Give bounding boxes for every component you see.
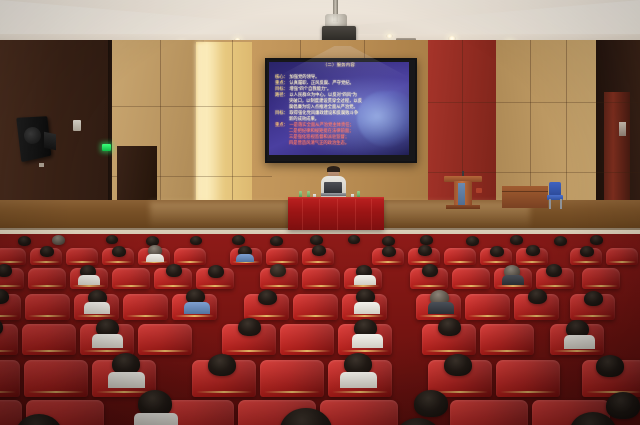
auditorium-seat[interactable] [123,294,168,320]
audience-shirt [146,254,164,262]
slide-line-text: 腐倡廉为切入点推进全面从严治党。 [289,104,358,109]
presenter-hair [327,166,340,172]
audience-head [606,392,640,419]
slide-line-label: 重点： [275,122,288,127]
slide-body: 核心：加强党的领导。重点：认真履职、正风反腐、严守党纪。目标：增强"四个自我能力… [269,75,409,147]
auditorium-seat[interactable] [28,268,66,289]
laptop-keyboard[interactable] [321,193,346,196]
auditorium-seat[interactable] [260,360,324,397]
lectern-base [446,205,480,209]
auditorium-seat[interactable] [320,400,398,425]
audience-head [528,289,547,304]
auditorium-seat[interactable] [66,248,98,265]
audience-shirt [134,413,178,425]
audience-shirt [354,302,380,314]
slide-line-text: 加强党的领导。 [289,74,319,79]
slide-line-label: 路径： [275,92,288,97]
slide-line-text: 二是把纪律和规矩挺在法律前面； [289,128,353,133]
audience-shirt [340,372,377,388]
audience-shirt [428,302,454,314]
audience-head [526,245,540,256]
audience-head [312,245,326,256]
audience-head [190,236,202,245]
audience-head [112,246,126,257]
auditorium-seat[interactable] [0,400,22,425]
projection-screen[interactable]: （二）服务内容 核心：加强党的领导。重点：认真履职、正风反腐、严守党纪。目标：增… [269,62,409,155]
loudspeaker-bracket [44,132,56,151]
audience-head [52,235,65,245]
slide-line-text: 突破口，以制度建设贯穿全过程，以反 [289,98,362,103]
wall-sconce-right [619,122,626,136]
lectern-front-panel [458,183,465,205]
chair-leg [560,199,562,209]
audience-head [418,245,432,256]
audience-head [270,264,286,277]
audience-head [422,264,438,277]
audience-head [238,318,261,336]
auditorium-seat[interactable] [465,294,510,320]
side-cabinet-seam [502,191,548,192]
audience-head [580,246,594,257]
chair-leg [549,199,551,209]
slide-line-text: 一是落实全面从严治党主体责任； [289,122,353,127]
panel-seam [112,106,272,107]
slide-line-text: 四是营造风清气正的政治生态。 [289,140,349,145]
audience-head [40,246,54,257]
audience-head [590,235,603,245]
downlight [386,34,393,38]
slide-line-text: 取得强化党风廉政建设和反腐败斗争 [289,110,358,115]
auditorium-seat[interactable] [302,268,340,289]
slide-line-label: 核心： [275,74,288,79]
audience-head [438,318,461,336]
audience-head [106,235,118,244]
audience-shirt [564,335,595,349]
slide-line-text: 增强"四个自我能力"。 [289,86,331,91]
slide-line-text: 以人民群众为中心，以反对"四风"为 [289,92,357,97]
audience-head [208,354,236,376]
audience-head [382,236,395,246]
audience-head [444,354,472,376]
side-cabinet [502,186,548,208]
audience-head [490,246,504,257]
auditorium-seat[interactable] [22,324,76,355]
presenter-table [288,199,384,230]
audience-head [258,290,277,305]
panel-seam [428,102,640,103]
exit-sign-icon [102,144,111,151]
audience-shirt [108,372,145,388]
slide-line-text: 新的成效成果。 [289,116,319,121]
side-door-left[interactable] [117,146,157,206]
audience-shirt [84,302,110,314]
audience-shirt [352,334,383,348]
audience-head [270,236,283,246]
audience-shirt [78,275,100,285]
auditorium-seat[interactable] [293,294,338,320]
auditorium-seat[interactable] [444,248,476,265]
audience-head [420,235,433,245]
slide-line-text: 认真履职、正风反腐、严守党纪。 [289,80,353,85]
auditorium-seat[interactable] [582,268,620,289]
audience-head [554,236,567,246]
audience-head [382,246,396,257]
auditorium-seat[interactable] [480,324,534,355]
audience-head [414,390,448,417]
audience-head [0,264,12,277]
audience-head [510,235,523,245]
slide-line-label: 重点： [275,80,288,85]
audience-head-foreground [396,418,440,425]
audience-seating-area [0,234,640,425]
audience-shirt [502,275,524,285]
auditorium-seat[interactable] [174,248,206,265]
audience-head [546,264,562,277]
audience-shirt [236,254,254,262]
blue-chair-back [549,182,561,196]
audience-shirt [184,302,210,314]
slide-line: 四是营造风清气正的政治生态。 [275,141,409,146]
auditorium-seat[interactable] [280,324,334,355]
auditorium-seat[interactable] [496,360,560,397]
wall-notice-plate [73,120,81,131]
audience-head [348,235,360,244]
auditorium-seat[interactable] [452,268,490,289]
auditorium-seat[interactable] [450,400,528,425]
slide-line-label: 目标： [275,86,288,91]
audience-head [466,236,479,246]
auditorium-seat[interactable] [266,248,298,265]
audience-head [596,355,624,377]
slide-line-text: 三是强化巡视监督和派驻监督； [289,134,349,139]
audience-shirt [354,275,376,285]
auditorium-seat[interactable] [0,248,26,265]
auditorium-seat[interactable] [0,360,20,397]
audience-head [18,236,31,246]
audience-head [208,265,224,278]
auditorium-seat[interactable] [112,268,150,289]
wall-outlet-right[interactable] [476,188,482,193]
auditorium-photo: （二）服务内容 核心：加强党的领导。重点：认真履职、正风反腐、严守党纪。目标：增… [0,0,640,425]
auditorium-seat[interactable] [25,294,70,320]
audience-shirt [92,334,123,348]
panel-seam [428,172,640,173]
auditorium-seat[interactable] [138,324,192,355]
audience-head [310,235,323,245]
audience-head [584,291,603,306]
wall-switch-plate[interactable] [39,163,44,167]
auditorium-seat[interactable] [24,360,88,397]
audience-head [166,264,182,277]
slide-line-label: 目标： [275,110,288,115]
audience-head [232,235,245,245]
auditorium-seat[interactable] [606,248,638,265]
